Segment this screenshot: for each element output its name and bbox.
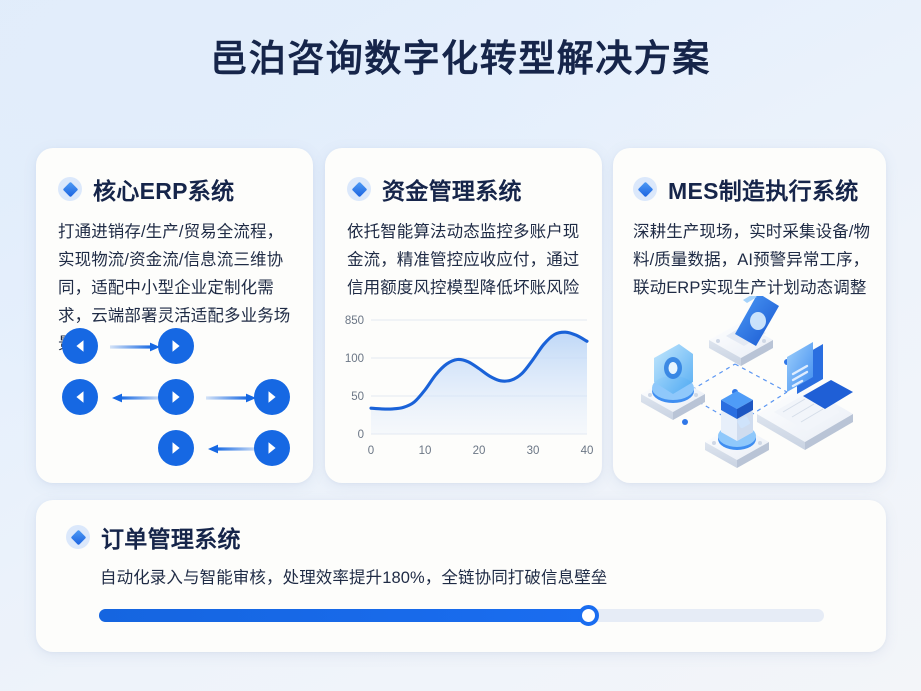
card-header: MES制造执行系统 (633, 172, 886, 206)
card-order-management[interactable]: 订单管理系统 自动化录入与智能审核，处理效率提升180%，全链协同打破信息壁垒 (36, 500, 886, 652)
camera-sensor-node (709, 296, 779, 366)
chart-y-axis-labels: 050100850 (345, 315, 364, 441)
slider-thumb[interactable] (578, 605, 599, 626)
isometric-network-illustration (617, 296, 882, 476)
arrow-left-node (62, 328, 98, 364)
card-mes[interactable]: MES制造执行系统 深耕生产现场，实时采集设备/物料/质量数据，AI预警异常工序… (613, 148, 886, 483)
arrow-right-node (254, 379, 290, 415)
card-header: 资金管理系统 (347, 172, 602, 206)
arrow-left-node (62, 379, 98, 415)
diamond-icon (58, 177, 82, 201)
card-description: 依托智能算法动态监控多账户现金流，精准管控应收应付，通过信用额度风控模型降低坏账… (347, 218, 588, 302)
slider-fill (99, 609, 588, 622)
diamond-icon (347, 177, 371, 201)
card-description: 自动化录入与智能审核，处理效率提升180%，全链协同打破信息壁垒 (100, 564, 886, 588)
arrow-left-connector (206, 444, 258, 454)
chart-x-tick: 40 (581, 445, 594, 457)
arrow-right-node (158, 328, 194, 364)
chart-canvas: 050100850 010203040 (333, 306, 595, 471)
card-title: 核心ERP系统 (93, 172, 234, 206)
chart-y-tick: 50 (351, 391, 364, 403)
chart-x-tick: 10 (419, 445, 432, 457)
card-header: 订单管理系统 (66, 520, 886, 554)
poster-page: 邑泊咨询数字化转型解决方案 核心ERP系统 打通进销存/生产/贸易全流程，实现物… (0, 0, 921, 691)
card-title: 资金管理系统 (382, 172, 522, 206)
arrow-right-node (254, 430, 290, 466)
card-title: 订单管理系统 (101, 520, 241, 554)
card-fund-management[interactable]: 资金管理系统 依托智能算法动态监控多账户现金流，精准管控应收应付，通过信用额度风… (325, 148, 602, 483)
chart-x-tick: 0 (368, 445, 374, 457)
chart-y-tick: 850 (345, 315, 364, 327)
arrow-flow-diagram (58, 328, 298, 468)
chart-x-axis-labels: 010203040 (368, 445, 594, 457)
arrow-left-connector (110, 393, 162, 403)
arrow-right-connector (110, 342, 162, 352)
progress-slider[interactable] (99, 605, 824, 625)
diamond-icon (633, 177, 657, 201)
page-title: 邑泊咨询数字化转型解决方案 (0, 36, 921, 82)
chart-y-tick: 100 (345, 353, 364, 365)
arrow-right-node (158, 379, 194, 415)
card-core-erp[interactable]: 核心ERP系统 打通进销存/生产/贸易全流程，实现物流/资金流/信息流三维协同，… (36, 148, 313, 483)
arrow-right-node (158, 430, 194, 466)
chart-area-fill (371, 332, 587, 434)
diamond-icon (66, 525, 90, 549)
page-title-container: 邑泊咨询数字化转型解决方案 (0, 36, 921, 82)
chart-y-tick: 0 (358, 429, 364, 441)
arrow-right-connector (206, 393, 258, 403)
laptop-node (757, 342, 853, 450)
chart-x-tick: 30 (527, 445, 540, 457)
controller-node (705, 391, 769, 468)
card-header: 核心ERP系统 (58, 172, 313, 206)
cashflow-area-chart: 050100850 010203040 (333, 306, 595, 471)
chart-x-tick: 20 (473, 445, 486, 457)
ring-sensor-node (641, 344, 705, 420)
card-title: MES制造执行系统 (668, 172, 859, 206)
card-description: 深耕生产现场，实时采集设备/物料/质量数据，AI预警异常工序，联动ERP实现生产… (633, 218, 874, 302)
